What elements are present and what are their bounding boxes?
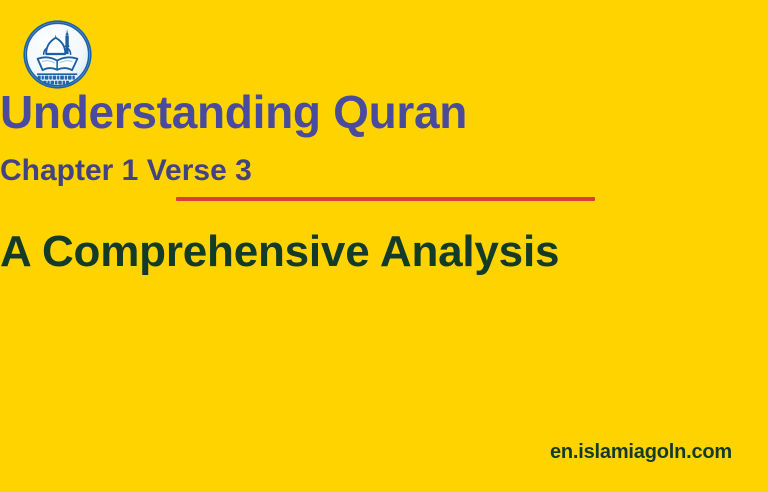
page-title: Understanding Quran <box>0 88 768 136</box>
chapter-verse-subtitle: Chapter 1 Verse 3 <box>0 155 768 187</box>
title-divider <box>176 197 595 201</box>
slide-canvas: Understanding Quran Chapter 1 Verse 3 A … <box>0 0 768 492</box>
website-url: en.islamiagoln.com <box>550 441 732 464</box>
main-headline: A Comprehensive Analysis <box>0 228 768 276</box>
islamia-gurukul-logo <box>22 19 93 90</box>
